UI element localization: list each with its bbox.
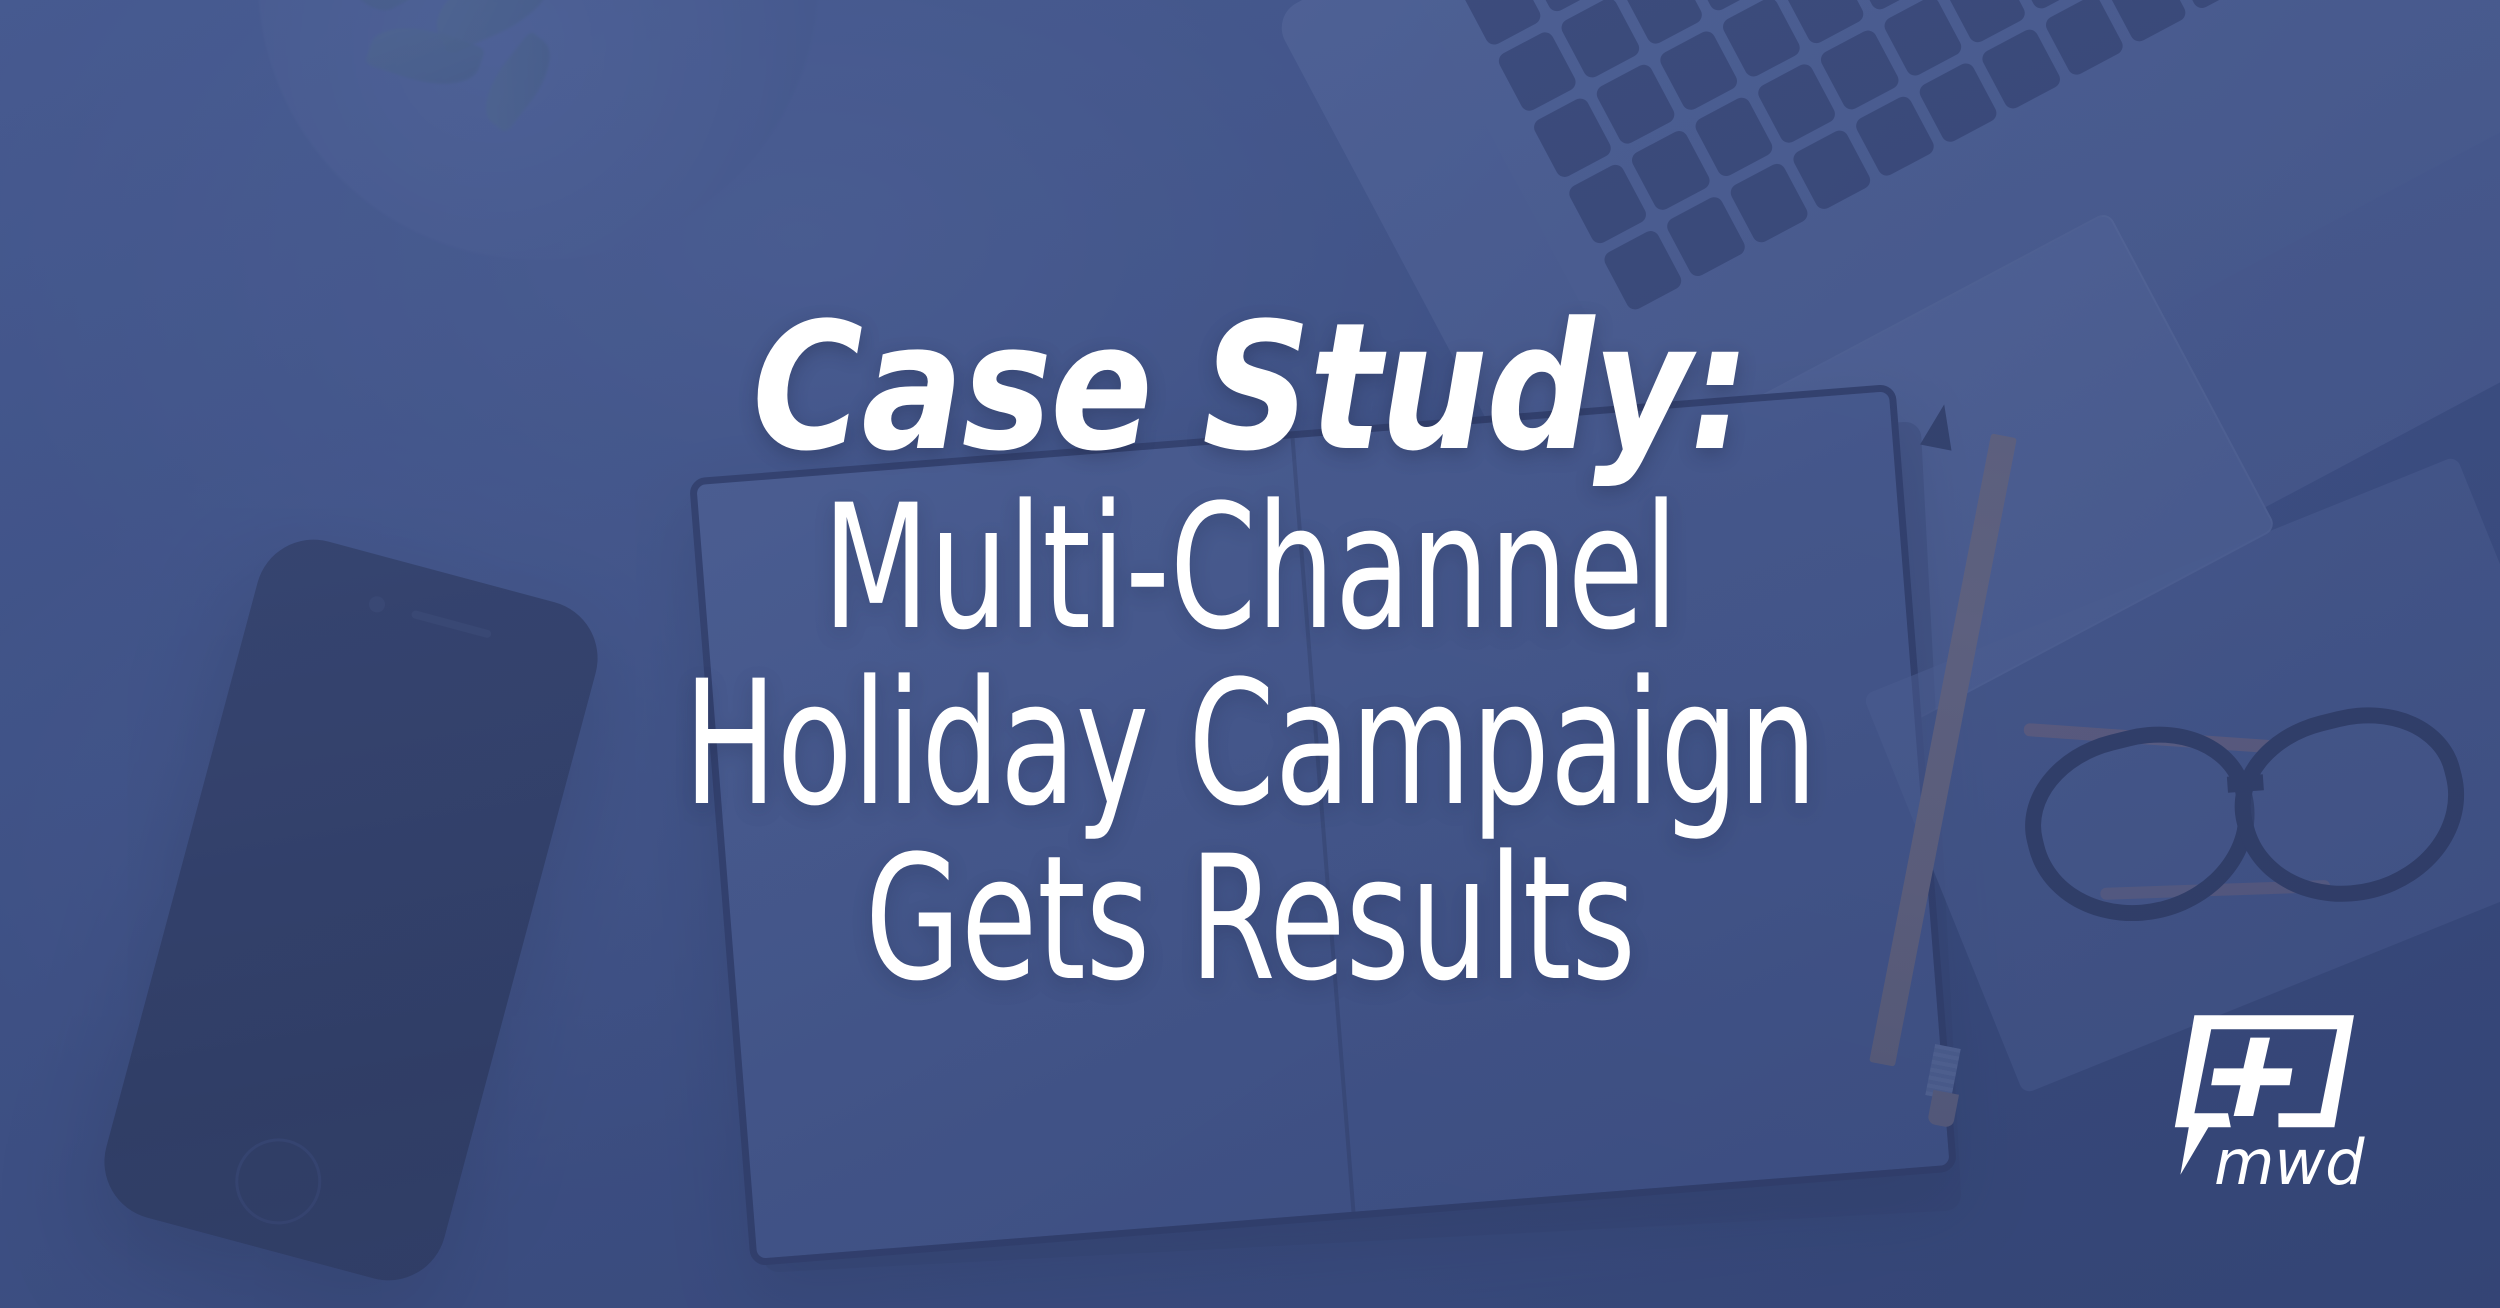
banner-content: Case Study: Multi-Channel Holiday Campai… (0, 0, 2500, 1308)
logo-wordmark: mwd (2214, 1132, 2364, 1194)
headline-line-1: Multi-Channel (683, 480, 1817, 655)
mwd-logo[interactable]: mwd (2158, 1000, 2368, 1190)
case-study-banner: Case Study: Multi-Channel Holiday Campai… (0, 0, 2500, 1308)
headline-line-3: Gets Results (683, 831, 1817, 1006)
headline-line-2: Holiday Campaign (683, 656, 1817, 831)
page-title: Multi-Channel Holiday Campaign Gets Resu… (683, 480, 1817, 1006)
eyebrow-label: Case Study: (752, 302, 1748, 474)
